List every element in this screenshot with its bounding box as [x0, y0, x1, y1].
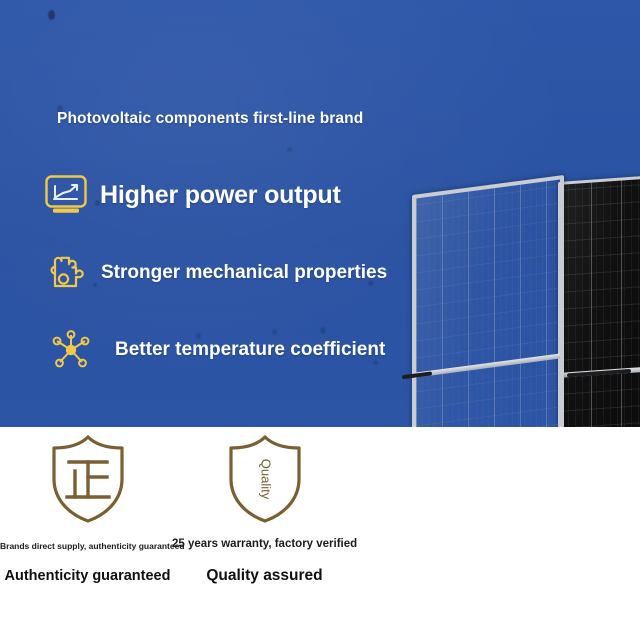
shield-quality-text: Quality	[258, 459, 273, 500]
assurance-item-authenticity: Brands direct supply, authenticity guara…	[0, 427, 175, 584]
puzzle-piece-icon	[47, 253, 89, 293]
monitor-chart-icon	[44, 174, 88, 216]
feature-row-higher-power-output: Higher power output	[44, 174, 341, 216]
shield-badge: Quality	[172, 427, 357, 525]
hero-panel: Photovoltaic components first-line brand…	[0, 0, 640, 427]
feature-label: Higher power output	[100, 181, 341, 210]
shield-quality-icon: Quality	[222, 433, 308, 525]
shield-badge	[0, 427, 175, 525]
feature-label: Stronger mechanical properties	[101, 262, 387, 284]
feature-row-better-temperature-coefficient: Better temperature coefficient	[47, 329, 385, 371]
image-artifact	[48, 10, 55, 20]
assurance-caption: Brands direct supply, authenticity guara…	[0, 541, 175, 551]
feature-row-stronger-mechanical-properties: Stronger mechanical properties	[47, 253, 387, 293]
assurance-item-quality: Quality 25 years warranty, factory verif…	[172, 427, 357, 584]
shield-zheng-icon	[45, 433, 131, 525]
assurance-band: Brands direct supply, authenticity guara…	[0, 427, 640, 640]
assurance-title: Quality assured	[172, 567, 357, 584]
feature-label: Better temperature coefficient	[115, 339, 385, 361]
hero-headline: Photovoltaic components first-line brand	[57, 110, 363, 128]
image-artifact	[287, 147, 292, 152]
assurance-title: Authenticity guaranteed	[0, 568, 175, 584]
promo-banner: Photovoltaic components first-line brand…	[0, 0, 640, 640]
assurance-caption: 25 years warranty, factory verified	[172, 538, 357, 550]
molecule-icon	[47, 329, 95, 371]
